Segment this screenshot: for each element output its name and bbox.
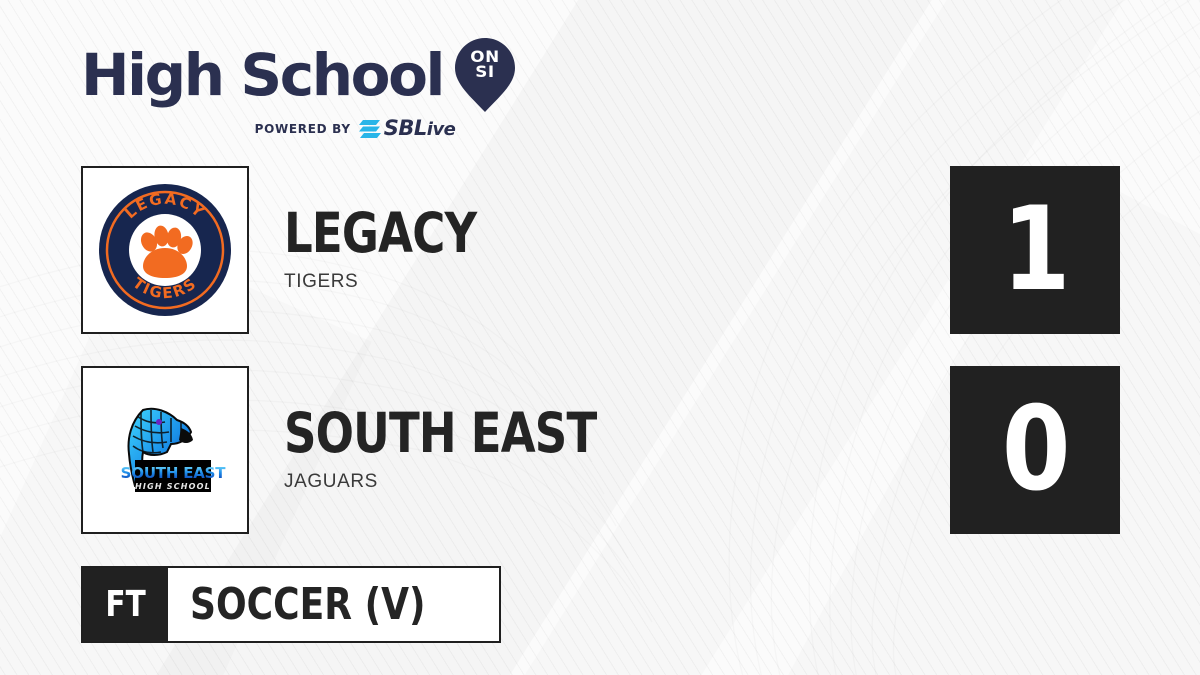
sblive-lower: ive bbox=[427, 119, 456, 140]
status-bar: FT SOCCER (V) bbox=[81, 566, 501, 643]
brand-title-row: High School ON SI bbox=[81, 36, 511, 114]
score-value: 0 bbox=[1002, 392, 1069, 508]
team-row: SOUTH EAST HIGH SCHOOL SOUTH EAST JAGUAR… bbox=[81, 366, 1121, 534]
south-east-jaguars-logo: SOUTH EAST HIGH SCHOOL bbox=[81, 366, 249, 534]
status-badge: FT bbox=[83, 568, 168, 641]
sblive-s-icon bbox=[359, 119, 381, 139]
status-event-label: SOCCER (V) bbox=[190, 579, 426, 630]
status-event: SOCCER (V) bbox=[168, 568, 499, 641]
team-row: LEGACY TIGERS LEGACY TIGERS 1 bbox=[81, 166, 1121, 334]
team-name: LEGACY bbox=[284, 207, 970, 261]
pin-label-line2: SI bbox=[451, 64, 518, 79]
powered-by-row: POWERED BY SBLive bbox=[81, 118, 511, 139]
pin-label: ON SI bbox=[453, 49, 517, 79]
background-band bbox=[400, 0, 1200, 675]
svg-text:SOUTH EAST: SOUTH EAST bbox=[121, 464, 227, 482]
legacy-tigers-logo: LEGACY TIGERS bbox=[81, 166, 249, 334]
score-value: 1 bbox=[1002, 192, 1069, 308]
brand-lockup: High School ON SI POWERED BY SBLive bbox=[81, 36, 511, 139]
score-box: 1 bbox=[950, 166, 1120, 334]
sblive-logo: SBLive bbox=[359, 118, 456, 139]
sblive-wordmark: SBLive bbox=[384, 118, 456, 139]
team-name: SOUTH EAST bbox=[284, 407, 970, 461]
score-box: 0 bbox=[950, 366, 1120, 534]
svg-text:HIGH SCHOOL: HIGH SCHOOL bbox=[135, 482, 211, 491]
sblive-upper: SBL bbox=[384, 116, 427, 140]
page-title: High School bbox=[81, 46, 443, 104]
powered-by-label: POWERED BY bbox=[255, 122, 351, 136]
map-pin-icon: ON SI bbox=[453, 36, 517, 114]
status-period-label: FT bbox=[105, 584, 145, 625]
scoreboard-graphic: High School ON SI POWERED BY SBLive bbox=[0, 0, 1200, 675]
